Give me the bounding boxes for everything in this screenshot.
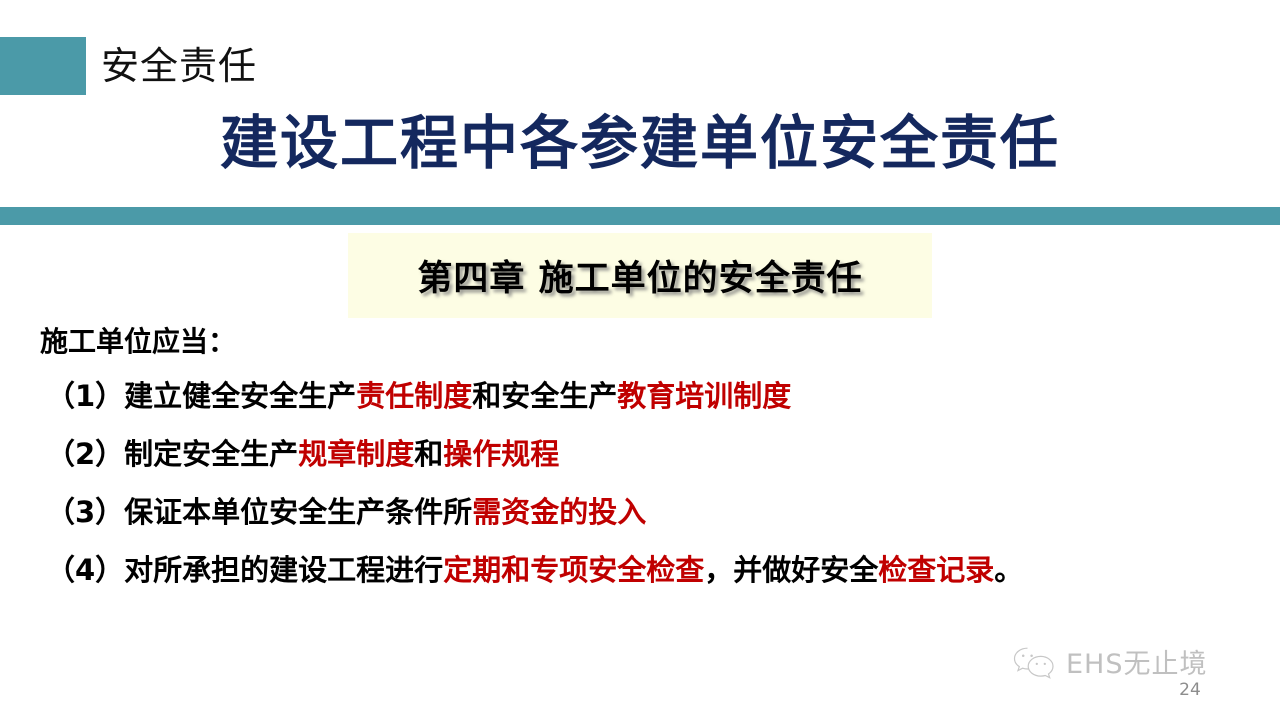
page-number: 24 xyxy=(1168,680,1212,700)
bullet-list: （1）建立健全安全生产责任制度和安全生产教育培训制度 （2）制定安全生产规章制度… xyxy=(46,376,1246,590)
list-item: （4）对所承担的建设工程进行定期和专项安全检查，并做好安全检查记录。 xyxy=(46,550,1246,590)
plain-text-run: （3）保证本单位安全生产条件所 xyxy=(46,495,472,529)
highlighted-term: 责任制度 xyxy=(356,379,472,413)
watermark-label: EHS无止境 xyxy=(1066,650,1208,680)
header-divider-bar xyxy=(0,207,1280,225)
highlighted-term: 检查记录 xyxy=(878,553,994,587)
plain-text-run: （1）建立健全安全生产 xyxy=(46,379,356,413)
wechat-icon xyxy=(1012,646,1058,684)
plain-text-run: （4）对所承担的建设工程进行 xyxy=(46,553,443,587)
highlighted-term: 规章制度 xyxy=(298,437,414,471)
header-accent-block xyxy=(0,37,86,95)
body-lead-text: 施工单位应当： xyxy=(40,322,236,362)
watermark: EHS无止境 xyxy=(1012,646,1208,684)
highlighted-term: 操作规程 xyxy=(443,437,559,471)
highlighted-term: 定期和专项安全检查 xyxy=(443,553,704,587)
list-item: （3）保证本单位安全生产条件所需资金的投入 xyxy=(46,492,1246,532)
slide-kicker: 安全责任 xyxy=(101,38,257,94)
page-title: 建设工程中各参建单位安全责任 xyxy=(0,104,1280,182)
list-item: （2）制定安全生产规章制度和操作规程 xyxy=(46,434,1246,474)
plain-text-run: 和 xyxy=(414,437,443,471)
highlighted-term: 教育培训制度 xyxy=(617,379,791,413)
highlighted-term: 需资金的投入 xyxy=(472,495,646,529)
plain-text-run: 和安全生产 xyxy=(472,379,617,413)
plain-text-run: （2）制定安全生产 xyxy=(46,437,298,471)
plain-text-run: ，并做好安全 xyxy=(704,553,878,587)
slide-canvas: 安全责任 建设工程中各参建单位安全责任 第四章 施工单位的安全责任 施工单位应当… xyxy=(0,0,1280,720)
plain-text-run: 。 xyxy=(994,553,1023,587)
list-item: （1）建立健全安全生产责任制度和安全生产教育培训制度 xyxy=(46,376,1246,416)
section-banner-title: 第四章 施工单位的安全责任 xyxy=(348,233,932,318)
